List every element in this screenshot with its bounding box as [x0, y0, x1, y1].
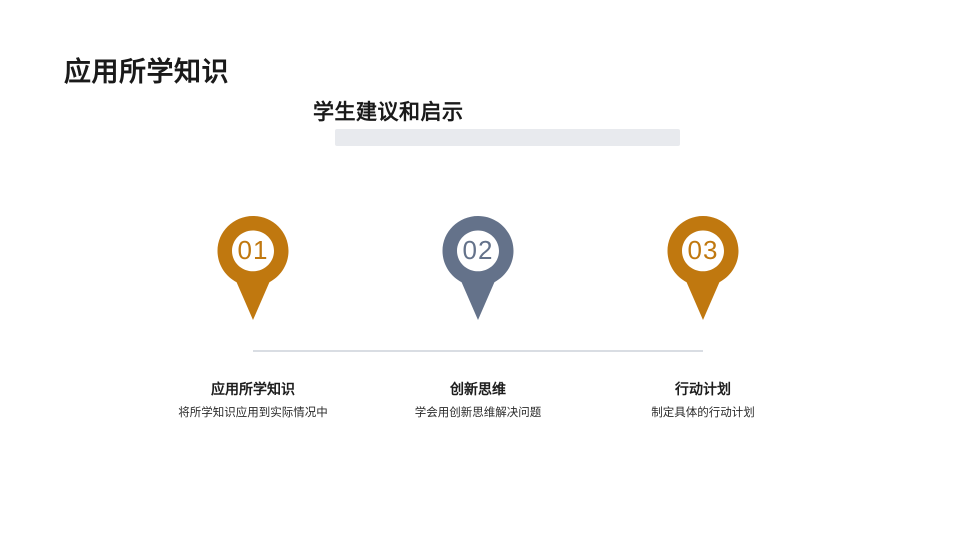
timeline: 01 应用所学知识 将所学知识应用到实际情况中 02 创新思维 学会用创新思维解…	[0, 0, 960, 548]
timeline-step-1[interactable]: 01 应用所学知识 将所学知识应用到实际情况中	[143, 212, 363, 324]
timeline-axis-line	[253, 350, 703, 352]
step-caption-3: 行动计划 制定具体的行动计划	[593, 380, 813, 421]
step-caption-1: 应用所学知识 将所学知识应用到实际情况中	[143, 380, 363, 421]
slide-canvas: 应用所学知识 学生建议和启示 01 应用所学知识 将所学知识应用到实际情况中	[0, 0, 960, 548]
map-pin-icon-2: 02	[432, 212, 524, 324]
step-heading-2: 创新思维	[368, 380, 588, 398]
pin-number-2: 02	[432, 212, 524, 288]
step-description-3: 制定具体的行动计划	[628, 406, 778, 421]
timeline-step-3[interactable]: 03 行动计划 制定具体的行动计划	[593, 212, 813, 324]
step-heading-1: 应用所学知识	[143, 380, 363, 398]
pin-number-3: 03	[657, 212, 749, 288]
map-pin-icon-3: 03	[657, 212, 749, 324]
step-description-1: 将所学知识应用到实际情况中	[178, 406, 328, 421]
map-pin-icon-1: 01	[207, 212, 299, 324]
step-caption-2: 创新思维 学会用创新思维解决问题	[368, 380, 588, 421]
pin-number-1: 01	[207, 212, 299, 288]
step-description-2: 学会用创新思维解决问题	[403, 406, 553, 421]
step-heading-3: 行动计划	[593, 380, 813, 398]
timeline-step-2[interactable]: 02 创新思维 学会用创新思维解决问题	[368, 212, 588, 324]
